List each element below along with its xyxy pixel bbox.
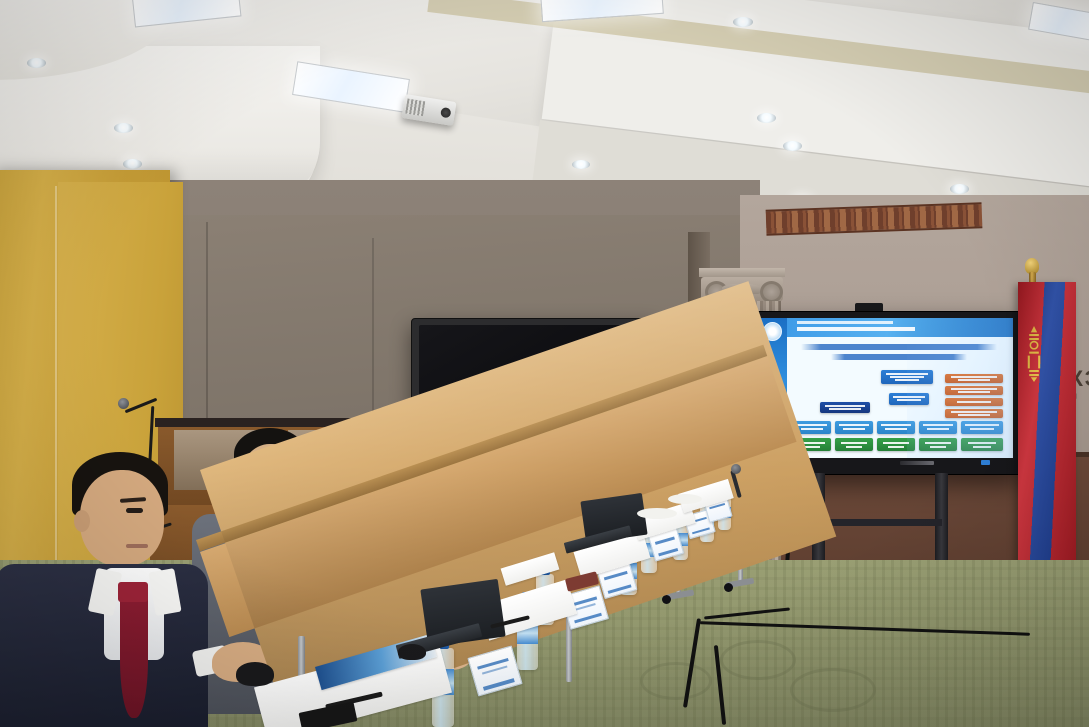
downlight	[757, 113, 776, 123]
org-box-green	[835, 438, 873, 451]
microphone-head	[118, 398, 129, 409]
downlight	[114, 123, 133, 133]
downlight	[950, 184, 969, 194]
attendee-mouth	[126, 544, 148, 548]
flag-shading	[1018, 282, 1076, 582]
projector-vent	[405, 99, 425, 117]
necktie	[120, 588, 148, 718]
org-box-ltblue	[835, 421, 873, 434]
downlight	[123, 159, 142, 169]
plate	[637, 508, 677, 519]
pilaster-volute-right	[760, 281, 783, 303]
carpet-medallion	[640, 662, 712, 700]
carpet-medallion	[790, 668, 876, 712]
attendee-eye	[126, 508, 143, 513]
display-power-led	[981, 460, 990, 465]
computer-mouse[interactable]	[398, 644, 426, 660]
projector-lens	[440, 107, 451, 118]
slide-header-line1	[797, 321, 893, 324]
downlight	[783, 141, 802, 151]
display-brand-logo	[900, 461, 934, 465]
mongolian-flag	[1018, 282, 1076, 582]
downlight	[572, 160, 590, 169]
org-box-left	[820, 402, 870, 413]
carpet-medallion	[720, 640, 796, 680]
slide-header-line2	[797, 327, 915, 331]
table-caster	[662, 595, 671, 604]
partition-seam	[55, 186, 57, 618]
pilaster-abacus	[699, 268, 785, 277]
display-stand-crossbar	[818, 519, 942, 526]
table-caster	[724, 583, 733, 592]
computer-mouse[interactable]	[236, 662, 274, 686]
conference-room-photo: ҮҮХЭ THE J	[0, 0, 1089, 727]
tie-knot	[118, 582, 148, 602]
plate	[668, 494, 702, 504]
table-microphone-head	[731, 464, 741, 474]
slide-glare	[907, 318, 1013, 458]
attendee-head	[80, 470, 164, 566]
downlight	[733, 17, 753, 27]
attendee-ear	[74, 510, 90, 532]
downlight	[27, 58, 46, 68]
